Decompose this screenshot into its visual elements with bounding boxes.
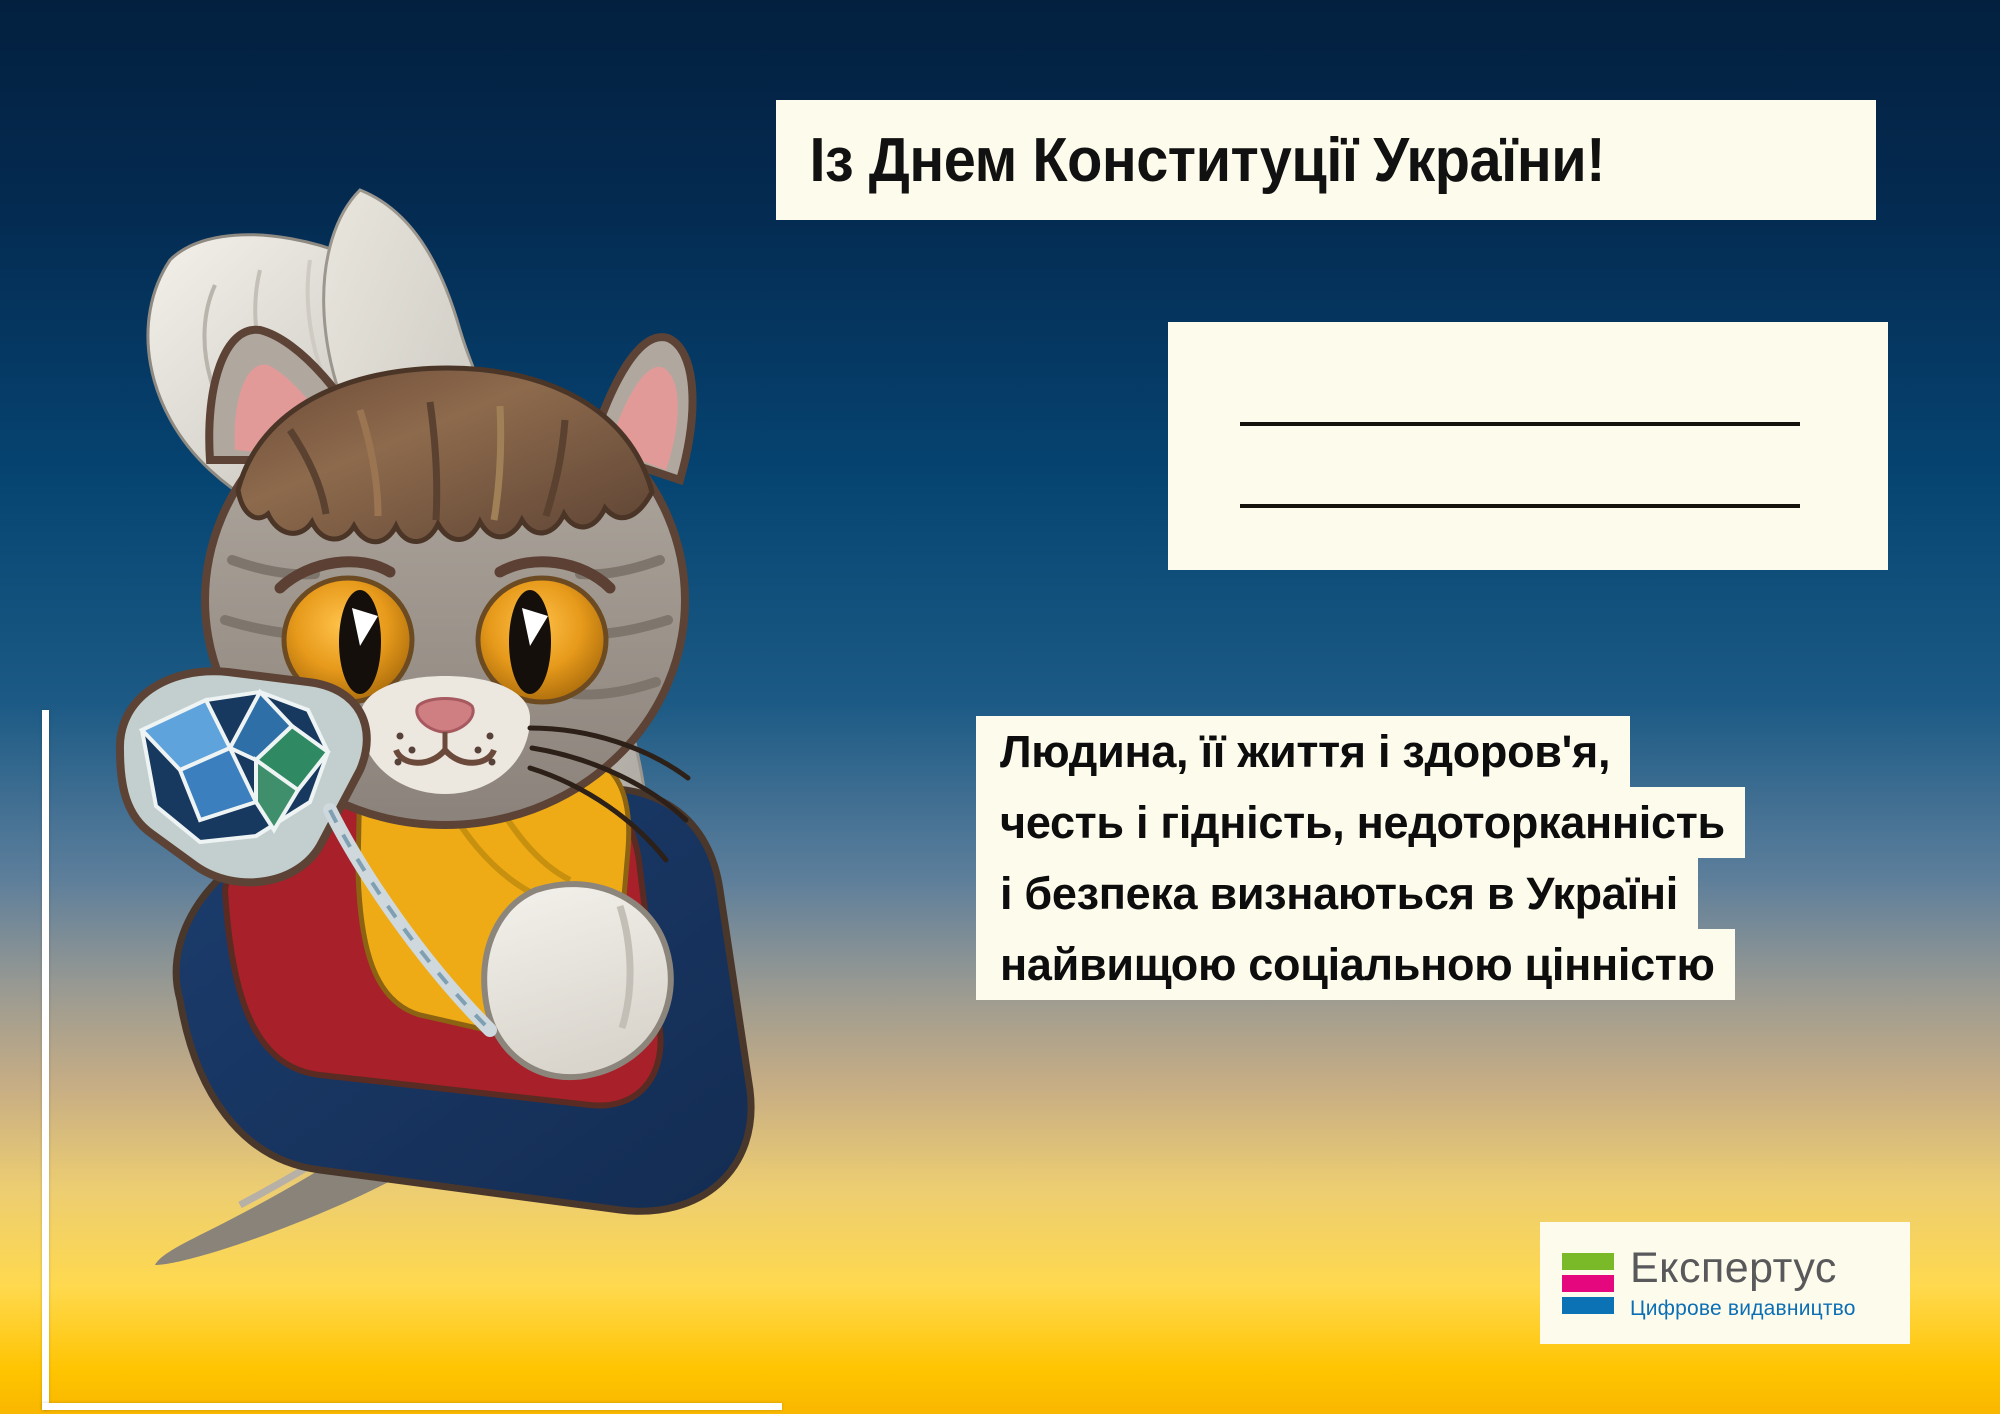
quote-block: Людина, її життя і здоров'я, честь і гід… bbox=[976, 716, 1745, 1000]
quote-line: і безпека визнаються в Україні bbox=[976, 858, 1698, 929]
expertus-logo[interactable]: Експертус Цифрове видавництво bbox=[1540, 1222, 1910, 1344]
logo-bar-blue bbox=[1562, 1297, 1614, 1314]
logo-bar-green bbox=[1562, 1253, 1614, 1270]
quote-line: найвищою соціальною цінністю bbox=[976, 929, 1735, 1000]
frame-horizontal-line bbox=[42, 1403, 782, 1410]
note-writing-line-1 bbox=[1240, 422, 1800, 426]
frame-vertical-line bbox=[42, 710, 49, 1410]
quote-line: Людина, її життя і здоров'я, bbox=[976, 716, 1630, 787]
quote-line: честь і гідність, недоторканність bbox=[976, 787, 1745, 858]
logo-bars-icon bbox=[1562, 1253, 1614, 1314]
logo-text-group: Експертус Цифрове видавництво bbox=[1630, 1247, 1856, 1319]
page-title: Із Днем Конституції України! bbox=[776, 125, 1605, 196]
note-card[interactable] bbox=[1168, 322, 1888, 570]
title-card: Із Днем Конституції України! bbox=[776, 100, 1876, 220]
cat-paw bbox=[484, 884, 671, 1077]
cat-eye-right bbox=[478, 578, 606, 702]
cat-with-quill-illustration bbox=[60, 130, 880, 1360]
constitution-day-poster: Із Днем Конституції України! Людина, її … bbox=[0, 0, 2000, 1414]
logo-tagline: Цифрове видавництво bbox=[1630, 1298, 1856, 1319]
note-writing-line-2 bbox=[1240, 504, 1800, 508]
logo-bar-pink bbox=[1562, 1275, 1614, 1292]
logo-name: Експертус bbox=[1630, 1247, 1856, 1290]
